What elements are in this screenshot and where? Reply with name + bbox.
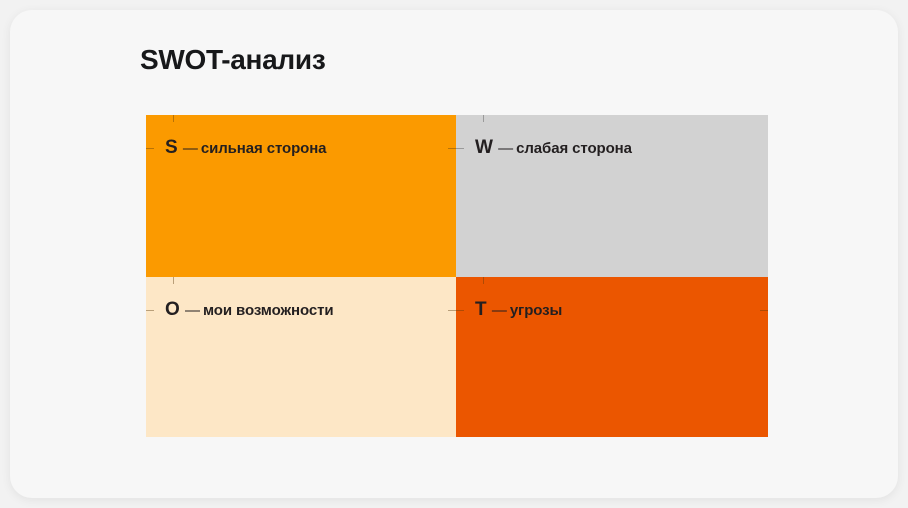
swot-description-opportunities: мои возможности (203, 302, 333, 319)
guide-tick-left-icon (146, 310, 154, 311)
swot-label-opportunities: O—мои возможности (165, 300, 333, 319)
swot-dash-threats: — (487, 302, 510, 319)
swot-quadrant-weaknesses[interactable]: W—слабая сторона (456, 115, 768, 277)
guide-tick-left-icon (456, 148, 464, 149)
guide-tick-left-icon (146, 148, 154, 149)
guide-tick-right-icon (448, 310, 456, 311)
swot-description-threats: угрозы (510, 302, 562, 319)
swot-dash-weaknesses: — (493, 140, 516, 157)
swot-quadrant-strengths[interactable]: S—сильная сторона (146, 115, 456, 277)
guide-tick-right-icon (760, 310, 768, 311)
swot-description-weaknesses: слабая сторона (516, 140, 632, 157)
swot-label-threats: T—угрозы (475, 300, 562, 319)
swot-description-strengths: сильная сторона (201, 140, 327, 157)
guide-tick-left-icon (456, 310, 464, 311)
swot-letter-threats: T (475, 299, 487, 320)
swot-letter-opportunities: O (165, 299, 180, 320)
swot-quadrant-threats[interactable]: T—угрозы (456, 277, 768, 437)
swot-card: SWOT-анализ S—сильная сторона W—слабая с… (10, 10, 898, 498)
guide-tick-right-icon (448, 148, 456, 149)
swot-dash-strengths: — (178, 140, 201, 157)
swot-letter-weaknesses: W (475, 137, 493, 158)
guide-tick-top-icon (173, 277, 174, 284)
swot-grid: S—сильная сторона W—слабая сторона O—мои… (146, 115, 768, 437)
page-title: SWOT-анализ (140, 44, 325, 76)
page-root: SWOT-анализ S—сильная сторона W—слабая с… (0, 0, 908, 508)
swot-quadrant-opportunities[interactable]: O—мои возможности (146, 277, 456, 437)
guide-tick-top-icon (483, 277, 484, 284)
swot-dash-opportunities: — (180, 302, 203, 319)
swot-label-weaknesses: W—слабая сторона (475, 138, 632, 157)
guide-tick-top-icon (173, 115, 174, 122)
swot-label-strengths: S—сильная сторона (165, 138, 326, 157)
swot-letter-strengths: S (165, 137, 178, 158)
guide-tick-top-icon (483, 115, 484, 122)
